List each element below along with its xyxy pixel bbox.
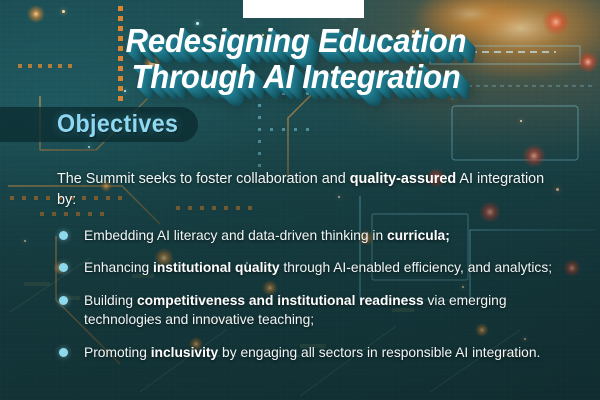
list-item: Promoting inclusivity by engaging all se… [57, 343, 565, 363]
dot-bullet-icon [59, 231, 68, 240]
list-item: Enhancing institutional quality through … [57, 258, 565, 278]
dot-bullet-icon [59, 296, 68, 305]
intro-paragraph: The Summit seeks to foster collaboration… [57, 169, 547, 211]
list-item: Embedding AI literacy and data-driven th… [57, 226, 565, 246]
title-line-1: Redesigning Education [18, 24, 574, 58]
bullet-3-bold: competitiveness and institutional readin… [137, 293, 424, 308]
bullet-1-bold: curricula; [387, 228, 450, 243]
bullet-4-part2: by engaging all sectors in responsible A… [218, 345, 540, 360]
bullet-2-bold: institutional quality [153, 260, 279, 275]
objectives-list: Embedding AI literacy and data-driven th… [57, 226, 565, 363]
bullet-4-part1: Promoting [84, 345, 151, 360]
bullet-2-part1: Enhancing [84, 260, 153, 275]
list-item: Building competitiveness and institution… [57, 291, 565, 330]
bullet-4-bold: inclusivity [151, 345, 218, 360]
white-redaction-block [243, 0, 364, 18]
bullet-2-part2: through AI-enabled efficiency, and analy… [280, 260, 553, 275]
poster-title: Redesigning Education Through AI Integra… [0, 24, 600, 94]
title-line-2: Through AI Integration [18, 60, 574, 94]
dot-bullet-icon [59, 348, 68, 357]
bullet-3-part1: Building [84, 293, 137, 308]
bullet-1-part1: Embedding AI literacy and data-driven th… [84, 228, 387, 243]
objectives-heading: Objectives [57, 110, 178, 139]
intro-bold-quality-assured: quality-assured [350, 171, 456, 187]
poster-canvas: Redesigning Education Through AI Integra… [0, 0, 600, 400]
dot-bullet-icon [59, 263, 68, 272]
objectives-content: The Summit seeks to foster collaboration… [57, 155, 565, 362]
intro-text-part1: The Summit seeks to foster collaboration… [57, 171, 350, 187]
